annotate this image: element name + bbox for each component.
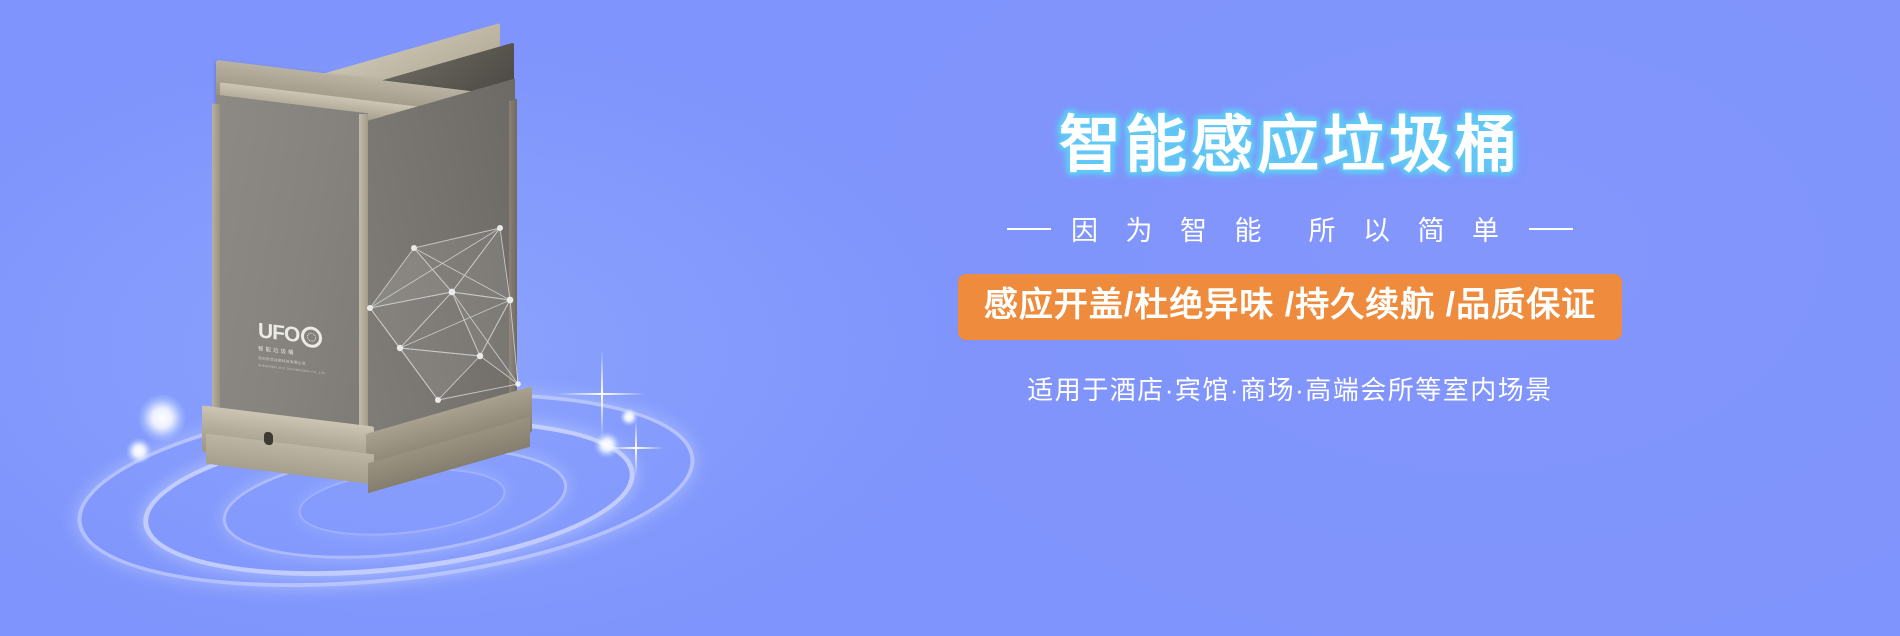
logo-wordmark: UFO	[258, 320, 299, 346]
sparkle-glow-4	[594, 432, 620, 458]
rule-right-icon	[1529, 228, 1573, 230]
polygon-network-graphic	[360, 188, 528, 428]
feature-bar-wrapper: 感应开盖/杜绝异味 /持久续航 /品质保证	[880, 248, 1700, 340]
headline: 智能感应垃圾桶	[880, 110, 1700, 181]
subheadline: 因 为 智 能 所 以 简 单	[880, 209, 1700, 248]
banner-copy: 智能感应垃圾桶 因 为 智 能 所 以 简 单 感应开盖/杜绝异味 /持久续航 …	[880, 110, 1700, 407]
sparkle-glow-1	[138, 394, 186, 442]
sparkle-glow-2	[126, 438, 152, 464]
bin-edge-left	[212, 104, 220, 427]
subheadline-text: 因 为 智 能 所 以 简 单	[1071, 209, 1509, 248]
rule-left-icon	[1007, 228, 1051, 230]
bin-front-panel	[216, 95, 368, 434]
logo-ring-icon	[301, 325, 322, 349]
feature-bar: 感应开盖/杜绝异味 /持久续航 /品质保证	[958, 274, 1622, 340]
bin-base-sensor-slot	[264, 431, 273, 445]
sparkle-glow-5	[620, 408, 638, 426]
usage-scenes: 适用于酒店·宾馆·商场·高端会所等室内场景	[880, 370, 1700, 407]
smart-trash-bin: UFO 智能垃圾桶 深圳市优扶欧科技有限公司 SHENZHEN UFO TECH…	[210, 48, 540, 468]
promo-banner: UFO 智能垃圾桶 深圳市优扶欧科技有限公司 SHENZHEN UFO TECH…	[0, 0, 1900, 636]
product-illustration: UFO 智能垃圾桶 深圳市优扶欧科技有限公司 SHENZHEN UFO TECH…	[60, 20, 760, 620]
